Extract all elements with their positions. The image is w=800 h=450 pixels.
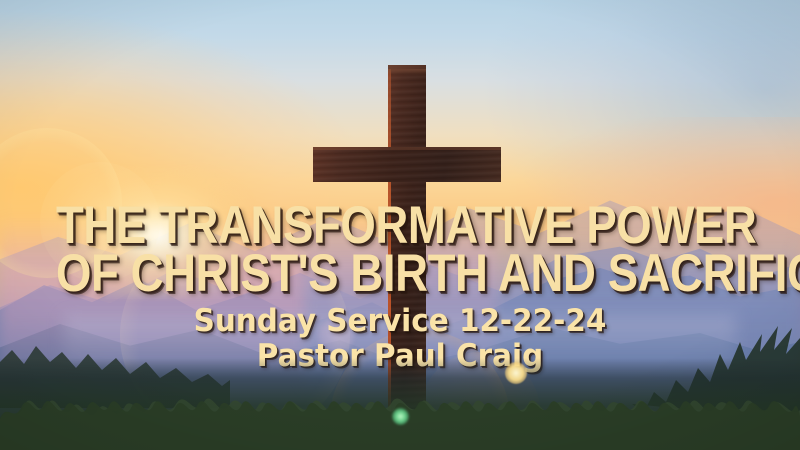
- lens-flare-orb-gold: [505, 362, 527, 384]
- headline-line-2: OF CHRIST'S BIRTH AND SACRIFICE: [56, 247, 744, 300]
- sermon-title-slide: THE TRANSFORMATIVE POWER OF CHRIST'S BIR…: [0, 0, 800, 450]
- lens-flare-orb-green: [392, 408, 409, 425]
